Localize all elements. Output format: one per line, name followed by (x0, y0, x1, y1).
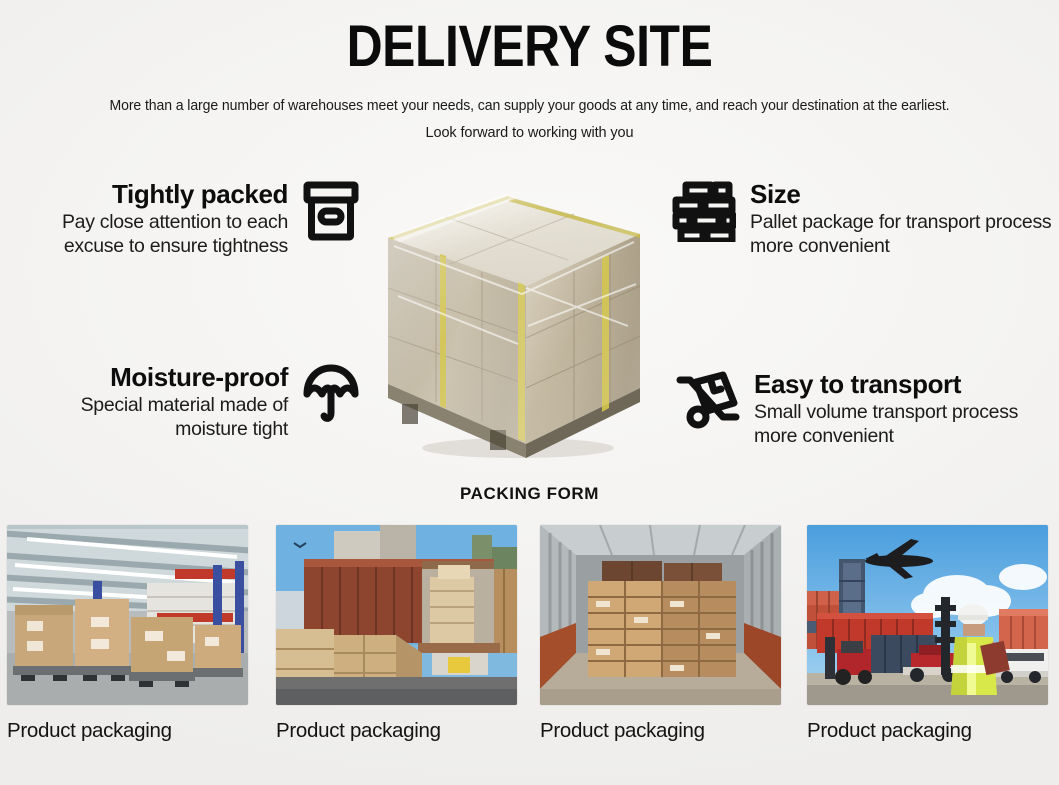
feature-description: Small volume transport process more conv… (754, 401, 1059, 449)
feature-moisture-proof: Moisture-proof Special material made of … (0, 363, 360, 442)
feature-title: Tightly packed (6, 180, 288, 208)
gallery-card[interactable]: Product packaging (807, 525, 1048, 743)
feature-title: Size (750, 180, 1059, 208)
container-loading-photo[interactable] (276, 525, 517, 705)
warehouse-pallets-photo[interactable] (7, 525, 248, 705)
feature-size: Size Pallet package for transport proces… (672, 180, 1059, 259)
logistics-port-photo[interactable] (807, 525, 1048, 705)
page-header: DELIVERY SITE More than a large number o… (0, 0, 1059, 141)
packing-form-gallery: Product packaging (0, 525, 1059, 755)
gallery-card[interactable]: Product packaging (540, 525, 781, 743)
brick-wall-icon (672, 180, 736, 242)
umbrella-icon (302, 363, 360, 425)
feature-text: Moisture-proof Special material made of … (6, 363, 288, 442)
gallery-card[interactable]: Product packaging (7, 525, 248, 743)
feature-description: Special material made of moisture tight (6, 394, 288, 442)
container-interior-photo[interactable] (540, 525, 781, 705)
feature-easy-to-transport: Easy to transport Small volume transport… (676, 370, 1059, 449)
card-caption: Product packaging (807, 720, 1048, 743)
feature-title: Moisture-proof (6, 363, 288, 391)
packing-form-heading: PACKING FORM (0, 484, 1059, 504)
gallery-card[interactable]: Product packaging (276, 525, 517, 743)
archive-box-icon (302, 180, 360, 242)
feature-title: Easy to transport (754, 370, 1059, 398)
header-subtitle-line2: Look forward to working with you (0, 125, 1059, 141)
feature-text: Easy to transport Small volume transport… (754, 370, 1059, 449)
hand-truck-icon (676, 370, 742, 430)
feature-text: Tightly packed Pay close attention to ea… (6, 180, 288, 259)
feature-description: Pay close attention to each excuse to en… (6, 211, 288, 259)
feature-tightly-packed: Tightly packed Pay close attention to ea… (0, 180, 360, 259)
feature-text: Size Pallet package for transport proces… (750, 180, 1059, 259)
page-title: DELIVERY SITE (74, 18, 985, 76)
feature-description: Pallet package for transport process mor… (750, 211, 1059, 259)
delivery-site-page: DELIVERY SITE More than a large number o… (0, 0, 1059, 785)
card-caption: Product packaging (540, 720, 781, 743)
card-caption: Product packaging (7, 720, 248, 743)
card-caption: Product packaging (276, 720, 517, 743)
header-subtitle-line1: More than a large number of warehouses m… (16, 98, 1043, 114)
shrink-wrapped-pallet-photo (378, 176, 650, 462)
